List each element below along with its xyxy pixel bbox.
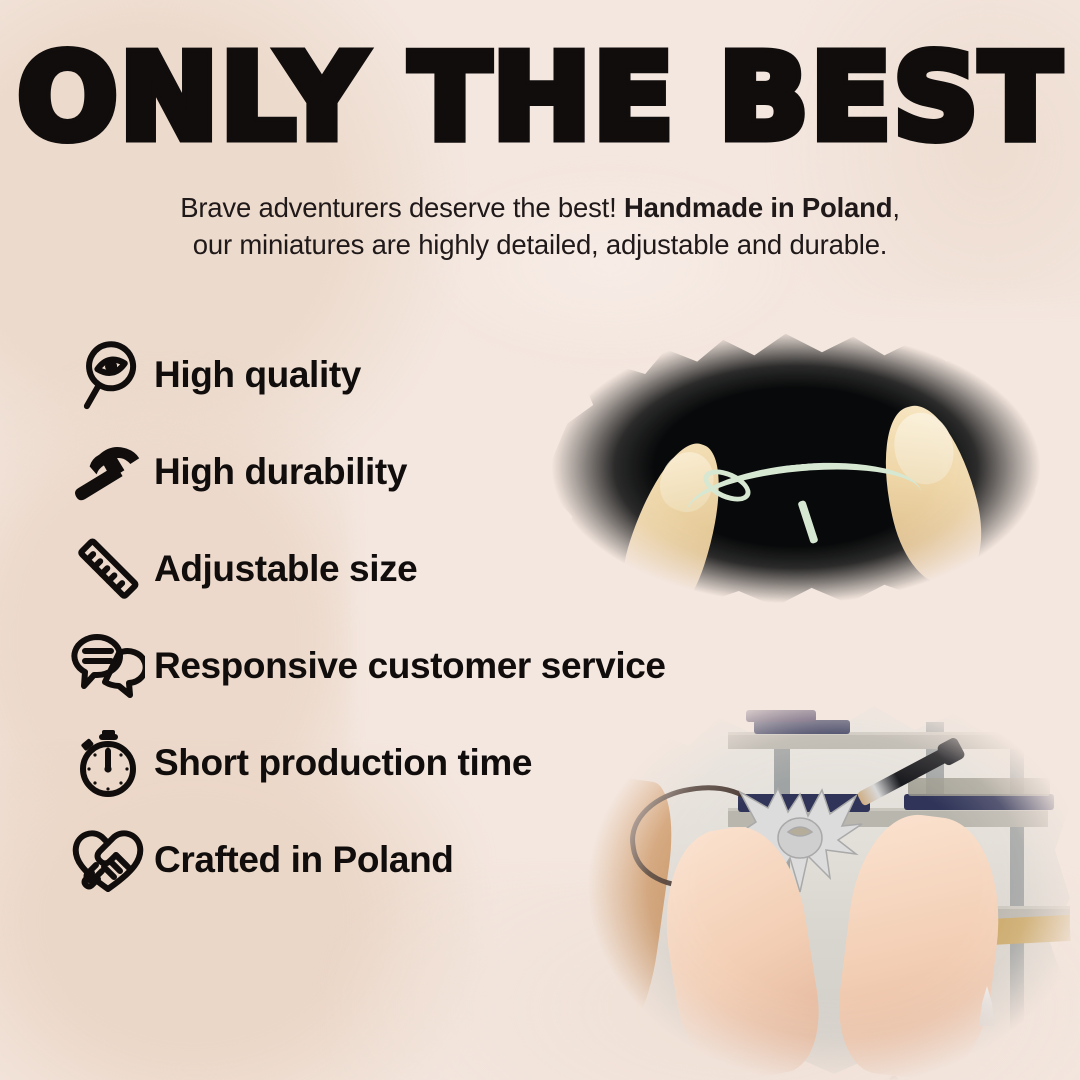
miniature-parts: [746, 710, 816, 722]
feature-label: Short production time: [154, 742, 532, 784]
subtitle-prefix: Brave adventurers deserve the best!: [180, 192, 624, 223]
subtitle-highlight: Handmade in Poland: [624, 192, 892, 223]
stopwatch-icon: [62, 723, 154, 803]
subtitle-line1: Brave adventurers deserve the best! Hand…: [180, 192, 900, 223]
feature-label: Crafted in Poland: [154, 839, 454, 881]
flexible-miniature-photo: [536, 312, 1056, 622]
ruler-icon: [62, 529, 154, 609]
shelf-post: [1010, 730, 1024, 1030]
miniature-parts: [908, 778, 1050, 796]
parts-tray: [904, 794, 1054, 810]
subtitle-suffix: ,: [892, 192, 899, 223]
feature-label: High quality: [154, 354, 361, 396]
subtitle-line2: our miniatures are highly detailed, adju…: [193, 229, 888, 260]
hammer-icon: [62, 432, 154, 512]
magnifier-eye-icon: [62, 335, 154, 415]
heart-handshake-icon: [62, 820, 154, 900]
speech-bubbles-icon: [62, 626, 154, 706]
promo-poster: ONLY THE BEST Brave adventurers deserve …: [0, 0, 1080, 1080]
subtitle: Brave adventurers deserve the best! Hand…: [90, 190, 990, 263]
feature-label: High durability: [154, 451, 407, 493]
feature-label: Responsive customer service: [154, 645, 666, 687]
shelf-board: [728, 732, 1048, 749]
workshop-crafting-photo: [578, 686, 1080, 1080]
parts-tray: [754, 720, 850, 734]
page-title: ONLY THE BEST: [0, 38, 1080, 156]
feature-label: Adjustable size: [154, 548, 417, 590]
